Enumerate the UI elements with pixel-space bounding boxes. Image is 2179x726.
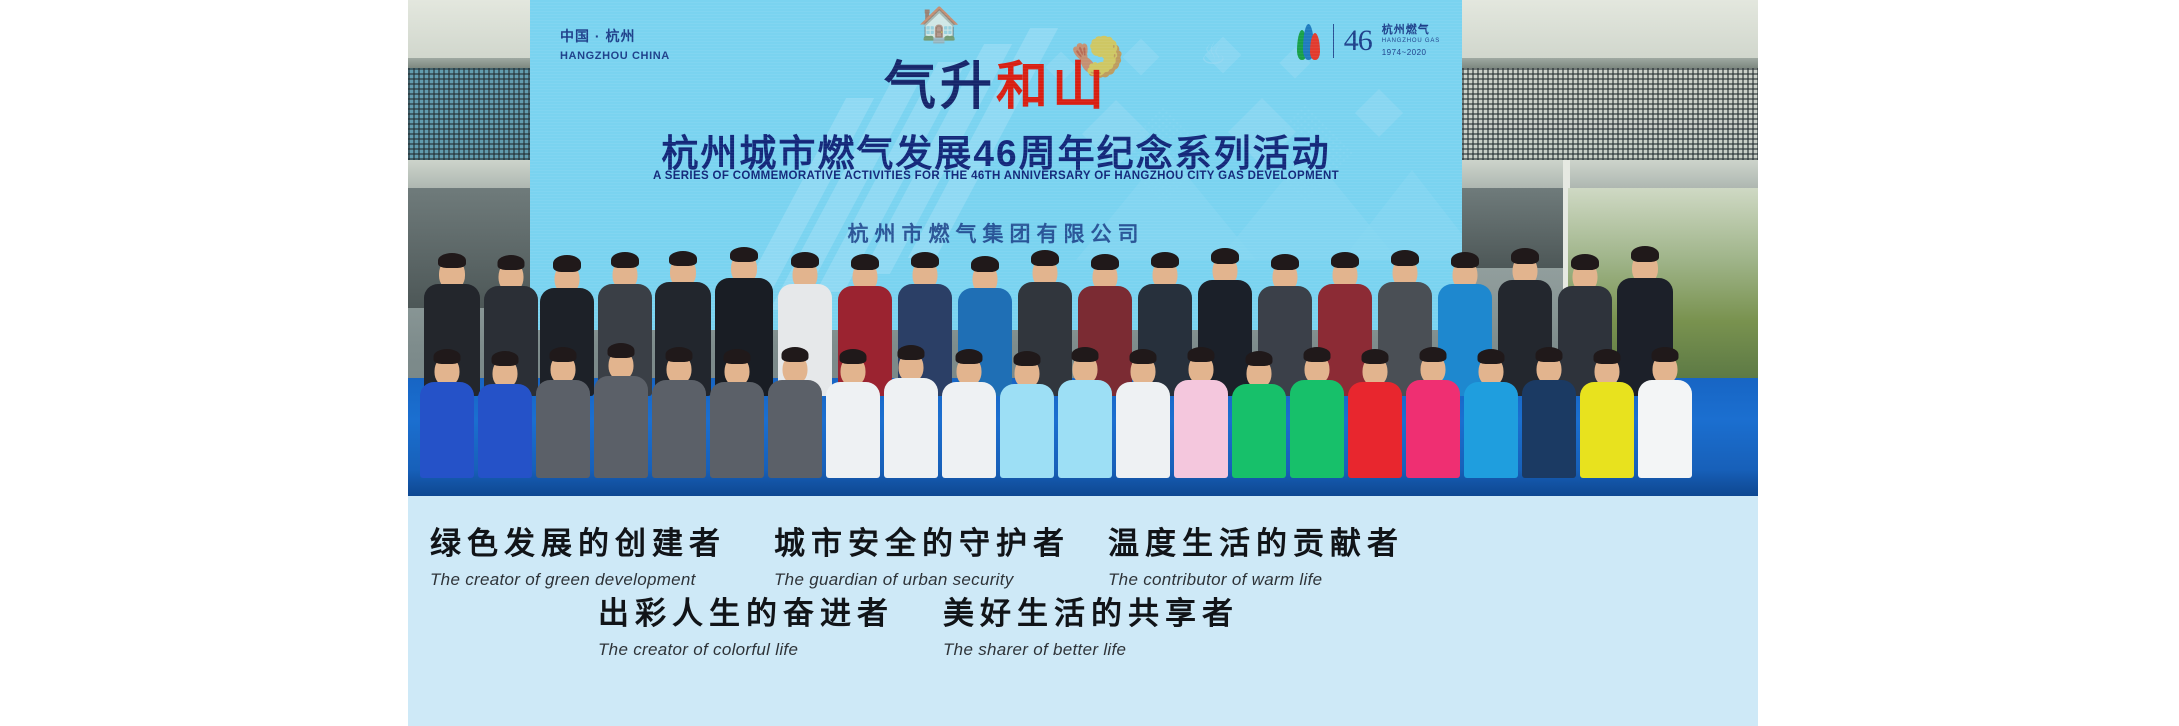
- slogan-cn: 出彩人生的奋进者: [598, 588, 894, 633]
- person: [592, 340, 650, 496]
- person: [1520, 344, 1578, 496]
- person: [940, 346, 998, 496]
- person: [650, 344, 708, 496]
- house-icon: 🏠: [918, 8, 960, 42]
- person: [1404, 344, 1462, 496]
- steaming-dish-icon: ♨: [1200, 40, 1227, 70]
- slogan-en: The sharer of better life: [943, 640, 1239, 660]
- venue-mesh-left: [408, 68, 530, 160]
- slogans-panel: 绿色发展的创建者 The creator of green developmen…: [408, 496, 1758, 726]
- person: [708, 346, 766, 496]
- locale-cn: 中国 · 杭州: [560, 26, 670, 46]
- anniversary-number: 46: [1344, 24, 1372, 58]
- brand-name-cn: 杭州燃气: [1382, 24, 1440, 38]
- slogan-en: The creator of green development: [430, 570, 726, 590]
- slogan-cn: 城市安全的守护者: [774, 518, 1070, 563]
- slogan-better-life: 美好生活的共享者 The sharer of better life: [943, 588, 1239, 660]
- person: [1172, 344, 1230, 496]
- person: [1288, 344, 1346, 496]
- slogan-warm-life: 温度生活的贡献者 The contributor of warm life: [1108, 518, 1404, 590]
- event-logotype: 气升和山: [884, 44, 1108, 119]
- slogan-cn: 温度生活的贡献者: [1108, 518, 1404, 563]
- logo-divider: [1333, 24, 1334, 58]
- person: [476, 348, 534, 496]
- slogan-en: The contributor of warm life: [1108, 570, 1404, 590]
- slogan-green-development: 绿色发展的创建者 The creator of green developmen…: [430, 518, 726, 590]
- person: [1114, 346, 1172, 496]
- person: [534, 344, 592, 496]
- flame-icon: [1297, 22, 1323, 60]
- slogan-colorful-life: 出彩人生的奋进者 The creator of colorful life: [598, 588, 894, 660]
- brand-years: 1974~2020: [1382, 48, 1440, 58]
- person: [824, 346, 882, 496]
- slogan-cn: 绿色发展的创建者: [430, 518, 726, 563]
- person: [882, 342, 940, 496]
- person: [766, 344, 824, 496]
- person: [1230, 348, 1288, 496]
- slogan-en: The guardian of urban security: [774, 570, 1070, 590]
- person: [1462, 346, 1520, 496]
- page-root: 🍤 🏠 ♨ 中国 · 杭州 HANGZHOU CHINA 46 杭州燃气: [0, 0, 2179, 726]
- screen-locale: 中国 · 杭州 HANGZHOU CHINA: [560, 26, 670, 62]
- content-column: 🍤 🏠 ♨ 中国 · 杭州 HANGZHOU CHINA 46 杭州燃气: [408, 0, 1758, 726]
- person: [1056, 344, 1114, 496]
- brand-name-en: HANGZHOU GAS: [1382, 38, 1440, 46]
- brand-logo: 46 杭州燃气 HANGZHOU GAS 1974~2020: [1297, 22, 1440, 60]
- brand-lockup: 杭州燃气 HANGZHOU GAS 1974~2020: [1382, 24, 1440, 57]
- person: [1636, 344, 1694, 496]
- person: [1578, 346, 1636, 496]
- logotype-part-b: 和山: [996, 58, 1108, 116]
- group-of-people: [408, 166, 1758, 496]
- person: [1346, 346, 1404, 496]
- event-group-photo: 🍤 🏠 ♨ 中国 · 杭州 HANGZHOU CHINA 46 杭州燃气: [408, 0, 1758, 496]
- venue-mesh-right: [1462, 68, 1758, 160]
- slogan-urban-security: 城市安全的守护者 The guardian of urban security: [774, 518, 1070, 590]
- logotype-part-a: 气升: [884, 58, 996, 116]
- slogan-en: The creator of colorful life: [598, 640, 894, 660]
- person: [998, 348, 1056, 496]
- locale-en: HANGZHOU CHINA: [560, 50, 670, 62]
- person: [418, 346, 476, 496]
- slogan-cn: 美好生活的共享者: [943, 588, 1239, 633]
